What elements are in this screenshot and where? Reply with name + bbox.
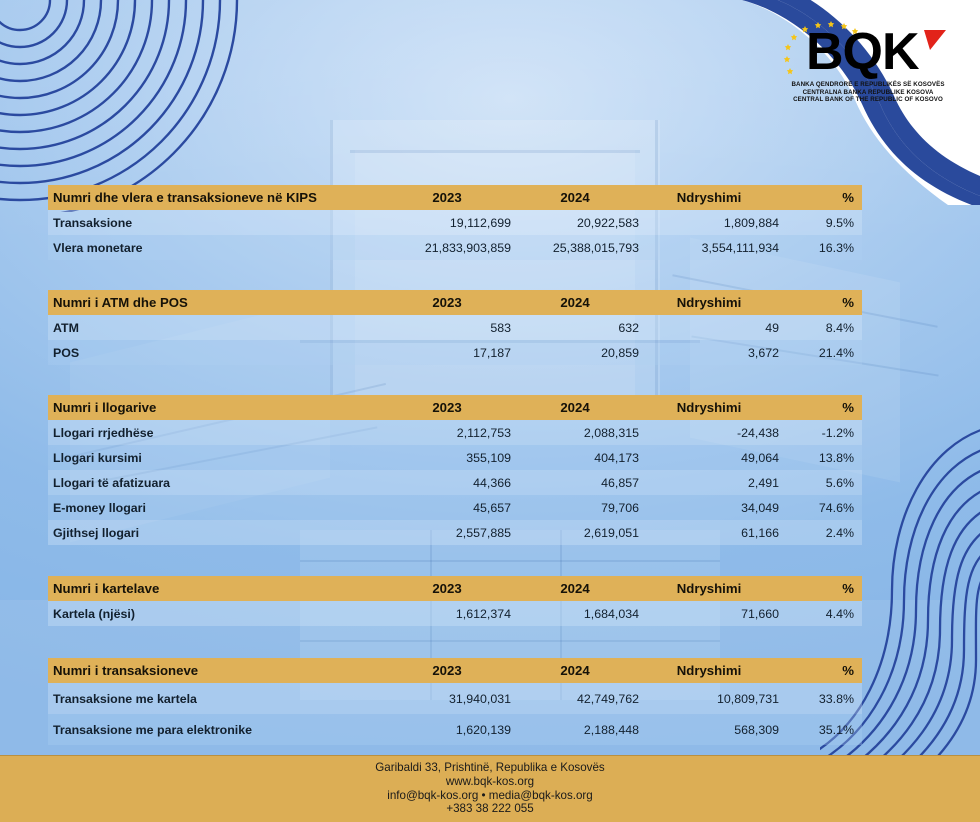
row-percent: 9.5% bbox=[779, 216, 862, 230]
row-2024: 2,619,051 bbox=[511, 526, 639, 540]
row-2024: 20,922,583 bbox=[511, 216, 639, 230]
poster-page: BQK BANKA QENDRORE E REPUBLIKËS SË KOSOV… bbox=[0, 0, 980, 822]
row-label: Transaksione me kartela bbox=[48, 692, 383, 706]
row-percent: 13.8% bbox=[779, 451, 862, 465]
table-row: ATM 583 632 49 8.4% bbox=[48, 315, 862, 340]
logo-mark: BQK bbox=[768, 18, 968, 80]
table-header-row: Numri i llogarive 2023 2024 Ndryshimi % bbox=[48, 395, 862, 420]
col-percent: % bbox=[779, 190, 862, 205]
row-2024: 42,749,762 bbox=[511, 692, 639, 706]
row-label: E-money llogari bbox=[48, 501, 383, 515]
col-2023: 2023 bbox=[383, 400, 511, 415]
row-2023: 45,657 bbox=[383, 501, 511, 515]
row-2024: 404,173 bbox=[511, 451, 639, 465]
row-change: 2,491 bbox=[639, 476, 779, 490]
row-percent: 33.8% bbox=[779, 692, 862, 706]
footer: Garibaldi 33, Prishtinë, Republika e Kos… bbox=[0, 755, 980, 822]
row-2023: 19,112,699 bbox=[383, 216, 511, 230]
footer-address: Garibaldi 33, Prishtinë, Republika e Kos… bbox=[375, 761, 604, 775]
col-percent: % bbox=[779, 295, 862, 310]
row-change: 3,672 bbox=[639, 346, 779, 360]
table-header-row: Numri i kartelave 2023 2024 Ndryshimi % bbox=[48, 576, 862, 601]
col-2024: 2024 bbox=[511, 400, 639, 415]
table-row: Kartela (njësi) 1,612,374 1,684,034 71,6… bbox=[48, 601, 862, 626]
row-2023: 44,366 bbox=[383, 476, 511, 490]
logo-line-sr: CENTRALNA BANKA REPUBLIKE KOSOVA bbox=[768, 89, 968, 97]
row-percent: 5.6% bbox=[779, 476, 862, 490]
col-2024: 2024 bbox=[511, 190, 639, 205]
row-change: 61,166 bbox=[639, 526, 779, 540]
table-row: Transaksione me kartela 31,940,031 42,74… bbox=[48, 683, 862, 714]
row-percent: 21.4% bbox=[779, 346, 862, 360]
footer-divider bbox=[0, 755, 980, 756]
row-2024: 20,859 bbox=[511, 346, 639, 360]
col-change: Ndryshimi bbox=[639, 295, 779, 310]
table-row: Gjithsej llogari 2,557,885 2,619,051 61,… bbox=[48, 520, 862, 545]
row-percent: 35.1% bbox=[779, 723, 862, 737]
col-2023: 2023 bbox=[383, 663, 511, 678]
table-header-row: Numri i transaksioneve 2023 2024 Ndryshi… bbox=[48, 658, 862, 683]
table-cards: Numri i kartelave 2023 2024 Ndryshimi % … bbox=[48, 576, 862, 626]
row-2024: 2,188,448 bbox=[511, 723, 639, 737]
row-change: 3,554,111,934 bbox=[639, 241, 779, 255]
row-label: ATM bbox=[48, 321, 383, 335]
row-label: Llogari rrjedhëse bbox=[48, 426, 383, 440]
row-percent: -1.2% bbox=[779, 426, 862, 440]
footer-phone: +383 38 222 055 bbox=[446, 802, 533, 816]
col-2024: 2024 bbox=[511, 295, 639, 310]
row-2023: 1,620,139 bbox=[383, 723, 511, 737]
logo-line-sq: BANKA QENDRORE E REPUBLIKËS SË KOSOVËS bbox=[768, 81, 968, 89]
bqk-logo: BQK BANKA QENDRORE E REPUBLIKËS SË KOSOV… bbox=[768, 18, 968, 104]
row-change: 1,809,884 bbox=[639, 216, 779, 230]
table-row: Transaksione me para elektronike 1,620,1… bbox=[48, 714, 862, 745]
col-2023: 2023 bbox=[383, 190, 511, 205]
col-2024: 2024 bbox=[511, 663, 639, 678]
row-change: 10,809,731 bbox=[639, 692, 779, 706]
row-percent: 8.4% bbox=[779, 321, 862, 335]
row-change: 49,064 bbox=[639, 451, 779, 465]
row-2024: 1,684,034 bbox=[511, 607, 639, 621]
footer-website[interactable]: www.bqk-kos.org bbox=[446, 775, 534, 789]
table-kips: Numri dhe vlera e transaksioneve në KIPS… bbox=[48, 185, 862, 260]
row-2023: 583 bbox=[383, 321, 511, 335]
table-row: Transaksione 19,112,699 20,922,583 1,809… bbox=[48, 210, 862, 235]
table-accounts: Numri i llogarive 2023 2024 Ndryshimi % … bbox=[48, 395, 862, 545]
table-row: Llogari rrjedhëse 2,112,753 2,088,315 -2… bbox=[48, 420, 862, 445]
row-2023: 2,112,753 bbox=[383, 426, 511, 440]
col-change: Ndryshimi bbox=[639, 581, 779, 596]
bqk-wordmark-icon: BQK bbox=[806, 24, 966, 80]
table-title: Numri i kartelave bbox=[48, 581, 383, 596]
row-label: Vlera monetare bbox=[48, 241, 383, 255]
row-2023: 1,612,374 bbox=[383, 607, 511, 621]
logo-subtitle: BANKA QENDRORE E REPUBLIKËS SË KOSOVËS C… bbox=[768, 81, 968, 104]
footer-emails[interactable]: info@bqk-kos.org • media@bqk-kos.org bbox=[387, 789, 592, 803]
row-change: -24,438 bbox=[639, 426, 779, 440]
row-2024: 25,388,015,793 bbox=[511, 241, 639, 255]
row-2024: 79,706 bbox=[511, 501, 639, 515]
table-row: Vlera monetare 21,833,903,859 25,388,015… bbox=[48, 235, 862, 260]
row-label: Transaksione bbox=[48, 216, 383, 230]
table-atm-pos: Numri i ATM dhe POS 2023 2024 Ndryshimi … bbox=[48, 290, 862, 365]
row-percent: 16.3% bbox=[779, 241, 862, 255]
row-change: 568,309 bbox=[639, 723, 779, 737]
row-percent: 74.6% bbox=[779, 501, 862, 515]
table-row: POS 17,187 20,859 3,672 21.4% bbox=[48, 340, 862, 365]
row-2023: 17,187 bbox=[383, 346, 511, 360]
row-change: 34,049 bbox=[639, 501, 779, 515]
row-label: Llogari kursimi bbox=[48, 451, 383, 465]
col-2023: 2023 bbox=[383, 581, 511, 596]
row-label: Gjithsej llogari bbox=[48, 526, 383, 540]
row-2024: 632 bbox=[511, 321, 639, 335]
col-change: Ndryshimi bbox=[639, 400, 779, 415]
table-title: Numri dhe vlera e transaksioneve në KIPS bbox=[48, 190, 383, 205]
col-change: Ndryshimi bbox=[639, 663, 779, 678]
row-2023: 21,833,903,859 bbox=[383, 241, 511, 255]
row-label: Kartela (njësi) bbox=[48, 607, 383, 621]
svg-text:BQK: BQK bbox=[806, 24, 920, 80]
row-label: Llogari të afatizuara bbox=[48, 476, 383, 490]
table-row: Llogari të afatizuara 44,366 46,857 2,49… bbox=[48, 470, 862, 495]
col-change: Ndryshimi bbox=[639, 190, 779, 205]
col-2024: 2024 bbox=[511, 581, 639, 596]
row-label: Transaksione me para elektronike bbox=[48, 723, 383, 737]
row-2024: 2,088,315 bbox=[511, 426, 639, 440]
table-row: Llogari kursimi 355,109 404,173 49,064 1… bbox=[48, 445, 862, 470]
col-2023: 2023 bbox=[383, 295, 511, 310]
row-percent: 2.4% bbox=[779, 526, 862, 540]
row-change: 49 bbox=[639, 321, 779, 335]
row-label: POS bbox=[48, 346, 383, 360]
row-percent: 4.4% bbox=[779, 607, 862, 621]
table-header-row: Numri i ATM dhe POS 2023 2024 Ndryshimi … bbox=[48, 290, 862, 315]
col-percent: % bbox=[779, 663, 862, 678]
table-transactions: Numri i transaksioneve 2023 2024 Ndryshi… bbox=[48, 658, 862, 745]
row-2023: 2,557,885 bbox=[383, 526, 511, 540]
row-2023: 355,109 bbox=[383, 451, 511, 465]
logo-line-en: CENTRAL BANK OF THE REPUBLIC OF KOSOVO bbox=[768, 96, 968, 104]
table-title: Numri i transaksioneve bbox=[48, 663, 383, 678]
row-2024: 46,857 bbox=[511, 476, 639, 490]
col-percent: % bbox=[779, 581, 862, 596]
table-header-row: Numri dhe vlera e transaksioneve në KIPS… bbox=[48, 185, 862, 210]
table-title: Numri i llogarive bbox=[48, 400, 383, 415]
table-row: E-money llogari 45,657 79,706 34,049 74.… bbox=[48, 495, 862, 520]
col-percent: % bbox=[779, 400, 862, 415]
row-change: 71,660 bbox=[639, 607, 779, 621]
row-2023: 31,940,031 bbox=[383, 692, 511, 706]
table-title: Numri i ATM dhe POS bbox=[48, 295, 383, 310]
